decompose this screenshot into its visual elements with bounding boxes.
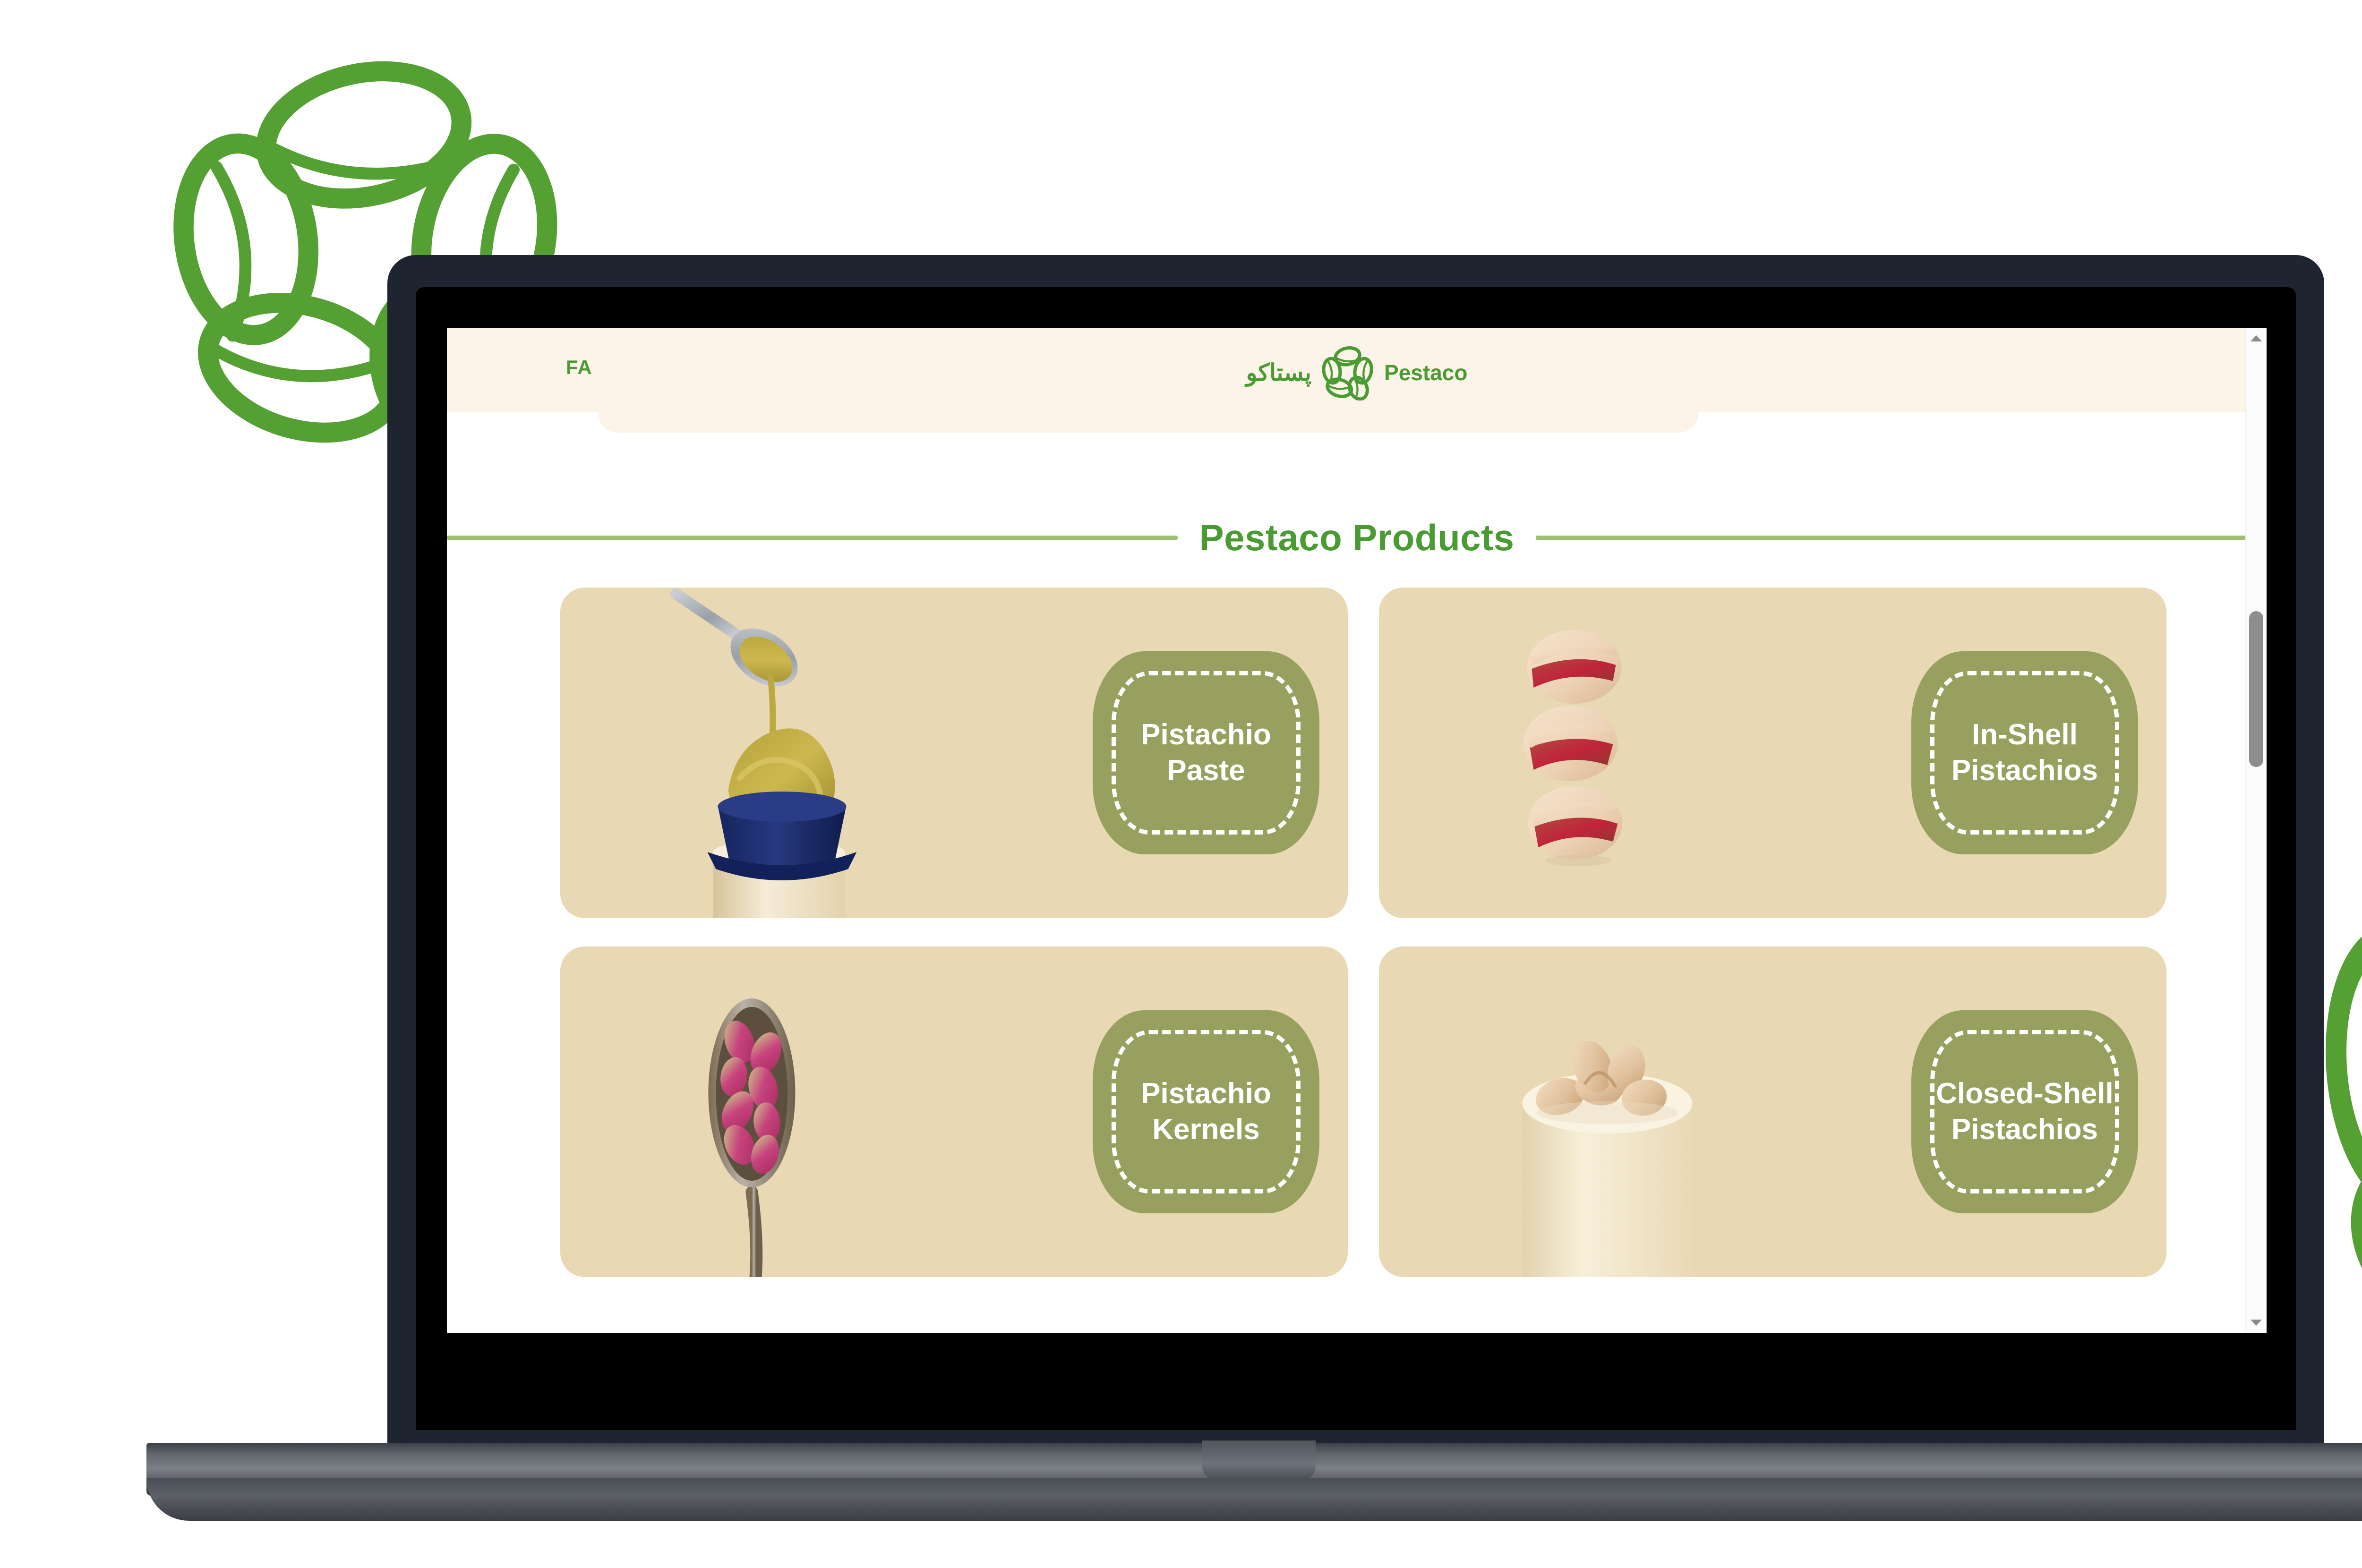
- section-title-row: Pestaco Products: [447, 516, 2267, 559]
- product-card-in-shell-pistachios[interactable]: In-Shell Pistachios: [1379, 588, 2166, 918]
- vertical-scrollbar[interactable]: [2245, 328, 2267, 1333]
- scrollbar-thumb[interactable]: [2249, 611, 2263, 767]
- product-badge: Pistachio Paste: [1093, 651, 1319, 854]
- laptop-screen: FA پستاکو: [416, 287, 2296, 1430]
- product-badge: Closed-Shell Pistachios: [1911, 1010, 2138, 1213]
- chevron-up-icon[interactable]: [2246, 328, 2267, 349]
- product-label: In-Shell Pistachios: [1951, 717, 2098, 788]
- product-badge: Pistachio Kernels: [1093, 1010, 1319, 1213]
- closed-shell-pistachios-pedestal-image: [1379, 946, 1836, 1277]
- page-root: FA پستاکو: [0, 0, 2362, 1568]
- page-title: Pestaco Products: [1199, 516, 1515, 559]
- product-card-pistachio-kernels[interactable]: Pistachio Kernels: [560, 946, 1348, 1277]
- laptop-mockup: FA پستاکو: [0, 0, 2362, 1568]
- language-toggle-fa[interactable]: FA: [566, 356, 592, 379]
- product-card-closed-shell-pistachios[interactable]: Closed-Shell Pistachios: [1379, 946, 2166, 1277]
- product-label: Closed-Shell Pistachios: [1936, 1076, 2114, 1147]
- spoon-of-pistachio-kernels-image: [560, 946, 1017, 1277]
- laptop-base-lip: [146, 1478, 2362, 1521]
- brand-name-fa: پستاکو: [1246, 359, 1311, 386]
- stacked-in-shell-pistachios-image: [1379, 588, 1836, 918]
- laptop-base-notch: [1202, 1440, 1316, 1479]
- product-badge: In-Shell Pistachios: [1911, 651, 2138, 854]
- product-grid: Pistachio Paste: [560, 588, 2166, 1277]
- brand-name-en: Pestaco: [1384, 360, 1467, 385]
- pistachio-ring-logo-icon: [1320, 345, 1376, 401]
- product-label: Pistachio Kernels: [1141, 1076, 1271, 1147]
- header-skirt: [598, 412, 1699, 433]
- product-label: Pistachio Paste: [1141, 717, 1271, 788]
- chevron-down-icon[interactable]: [2246, 1312, 2267, 1333]
- product-card-pistachio-paste[interactable]: Pistachio Paste: [560, 588, 1348, 918]
- title-rule-right: [1536, 536, 2267, 540]
- brand-logo[interactable]: پستاکو: [1246, 345, 1468, 401]
- browser-viewport: FA پستاکو: [447, 328, 2267, 1333]
- pistachio-paste-bowl-image: [560, 588, 1017, 918]
- title-rule-left: [447, 536, 1178, 540]
